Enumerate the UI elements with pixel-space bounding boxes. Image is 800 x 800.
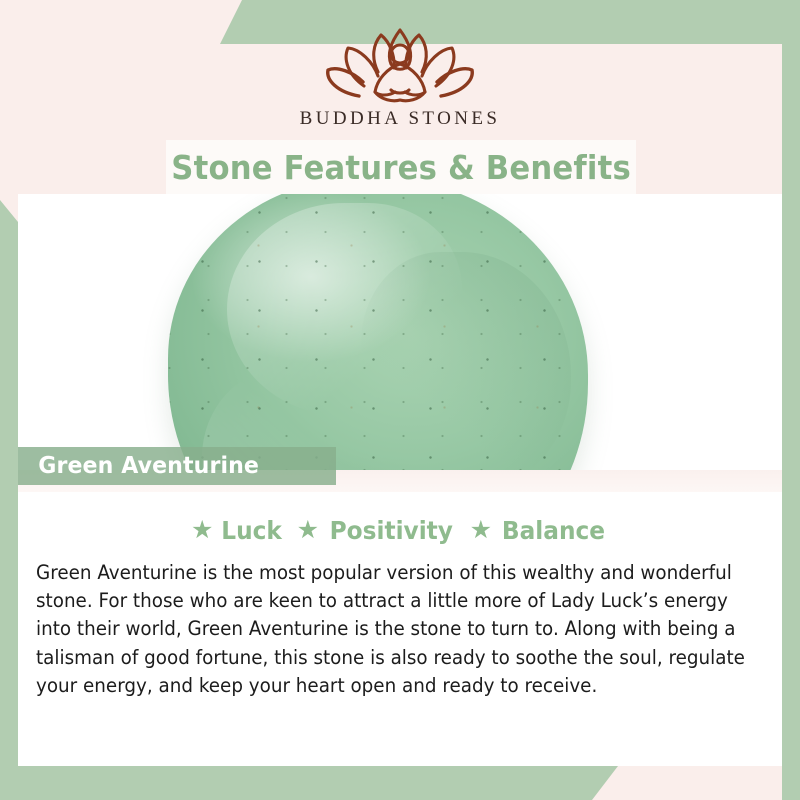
star-icon: ★ <box>470 518 492 543</box>
stone-name-label: Green Aventurine <box>23 453 259 479</box>
content-panel: ★ Luck ★ Positivity ★ Balance Green Aven… <box>18 492 782 766</box>
frame-bar-left <box>0 200 18 770</box>
benefit-label: Balance <box>502 516 605 545</box>
description-paragraph: Green Aventurine is the most popular ver… <box>36 559 763 700</box>
stone-name-band: Green Aventurine <box>18 447 336 485</box>
benefit-item-balance: ★ Balance <box>470 516 609 545</box>
page-title: Stone Features & Benefits <box>171 148 631 187</box>
benefit-item-luck: ★ Luck <box>191 516 285 545</box>
star-icon: ★ <box>191 518 213 543</box>
brand-name: BUDDHA STONES <box>300 108 501 130</box>
poster-root: BUDDHA STONES Stone Features & Benefits … <box>0 0 800 800</box>
benefit-label: Luck <box>222 516 283 545</box>
title-banner: Stone Features & Benefits <box>166 140 636 194</box>
benefit-item-positivity: ★ Positivity <box>297 516 458 545</box>
frame-bar-bottom <box>0 766 618 800</box>
benefits-list: ★ Luck ★ Positivity ★ Balance <box>36 516 764 545</box>
benefit-label: Positivity <box>330 516 453 545</box>
star-icon: ★ <box>297 518 319 543</box>
brand-header: BUDDHA STONES <box>0 0 800 142</box>
lotus-meditation-figure-icon <box>315 22 485 104</box>
